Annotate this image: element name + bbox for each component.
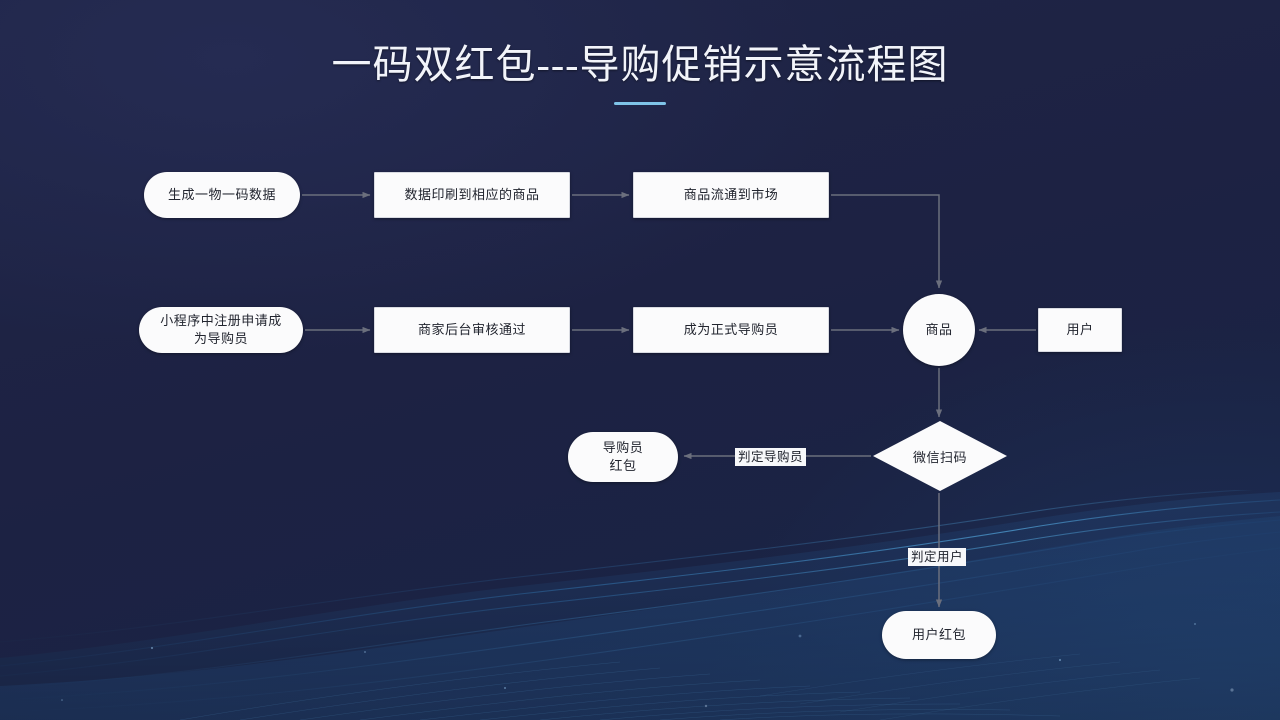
node-label: 商品流通到市场 (684, 186, 779, 204)
edge-label-judge-user: 判定用户 (908, 548, 966, 566)
node-label: 数据印刷到相应的商品 (404, 186, 539, 204)
node-label: 微信扫码 (913, 447, 967, 466)
node-generate-code-data[interactable]: 生成一物一码数据 (144, 172, 300, 218)
node-label-line1: 导购员 (603, 439, 644, 457)
node-label-line2: 为导购员 (160, 330, 282, 348)
node-guide-redpacket[interactable]: 导购员 红包 (568, 432, 678, 482)
node-label: 生成一物一码数据 (168, 186, 276, 204)
node-label: 商家后台审核通过 (418, 321, 526, 339)
node-user[interactable]: 用户 (1038, 308, 1122, 352)
node-goods-to-market[interactable]: 商品流通到市场 (633, 172, 829, 218)
node-label: 商品 (925, 321, 952, 339)
slide-header: 一码双红包---导购促销示意流程图 (0, 0, 1280, 140)
title-accent-underline (614, 102, 666, 105)
node-label-line1: 小程序中注册申请成 (160, 312, 282, 330)
node-user-redpacket[interactable]: 用户红包 (882, 611, 996, 659)
node-goods[interactable]: 商品 (903, 294, 975, 366)
node-label: 用户 (1066, 321, 1093, 339)
edge-label-judge-guide: 判定导购员 (735, 448, 806, 466)
node-label: 成为正式导购员 (684, 321, 779, 339)
node-merchant-approval[interactable]: 商家后台审核通过 (374, 307, 570, 353)
node-label: 用户红包 (912, 626, 966, 644)
node-register-as-guide[interactable]: 小程序中注册申请成 为导购员 (139, 307, 303, 353)
node-label-line2: 红包 (603, 457, 644, 475)
node-wechat-scan[interactable]: 微信扫码 (873, 421, 1007, 491)
node-become-official-guide[interactable]: 成为正式导购员 (633, 307, 829, 353)
node-print-data-on-goods[interactable]: 数据印刷到相应的商品 (374, 172, 570, 218)
page-title: 一码双红包---导购促销示意流程图 (0, 42, 1280, 88)
